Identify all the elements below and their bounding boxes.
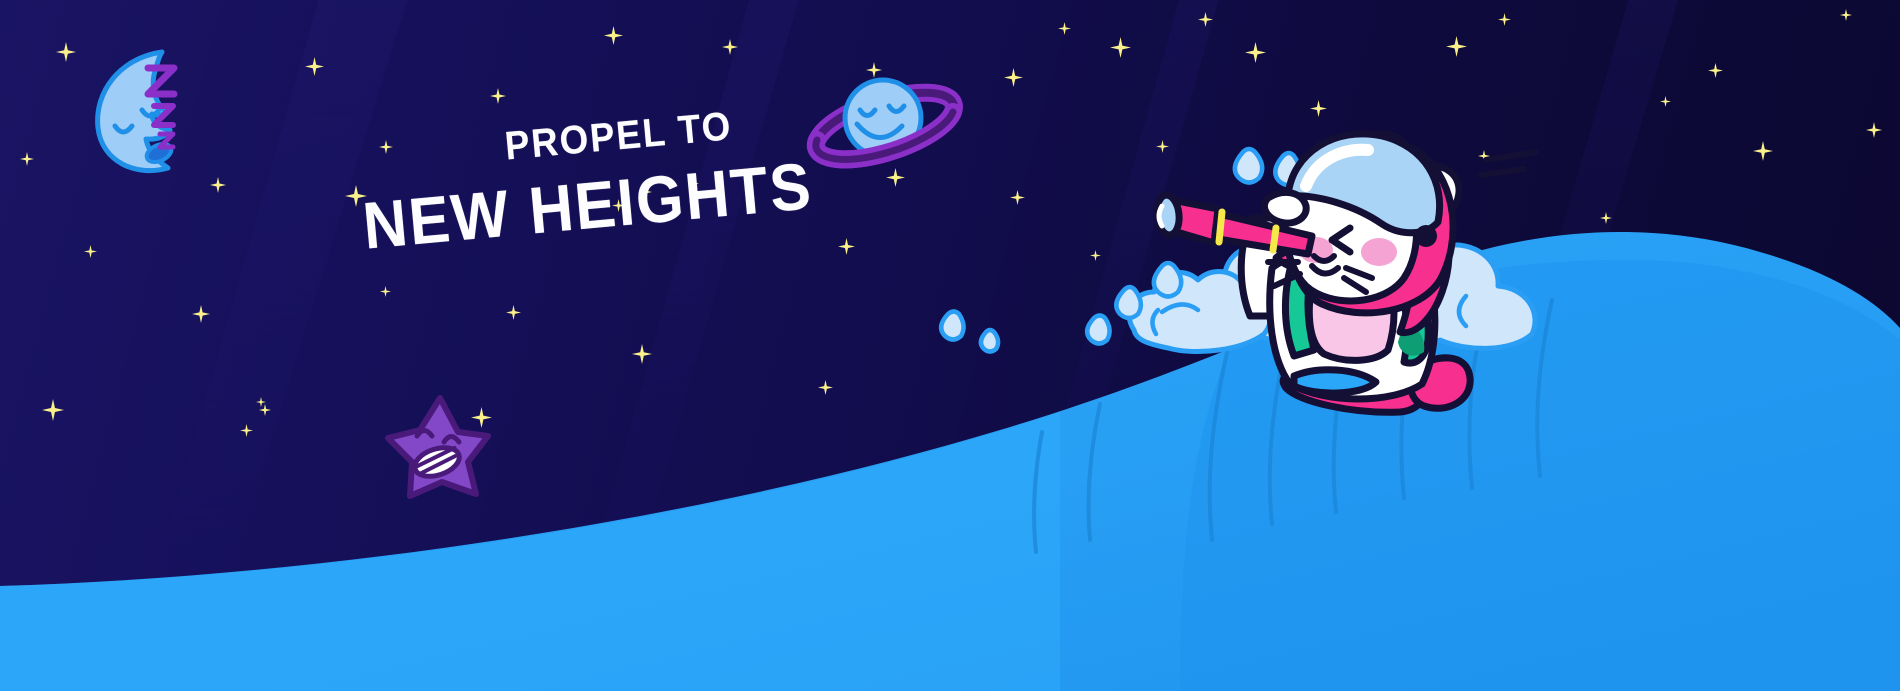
bunny-leg-shadow [1294, 370, 1376, 393]
bunny-cheek-right [1361, 238, 1397, 266]
bunny-hand [1264, 192, 1306, 223]
surfing-bunny [0, 0, 1900, 691]
helmet-bolt [1415, 225, 1437, 247]
motion-lines-icon [1481, 152, 1536, 175]
banner-root: PROPEL TO NEW HEIGHTS [0, 0, 1900, 691]
